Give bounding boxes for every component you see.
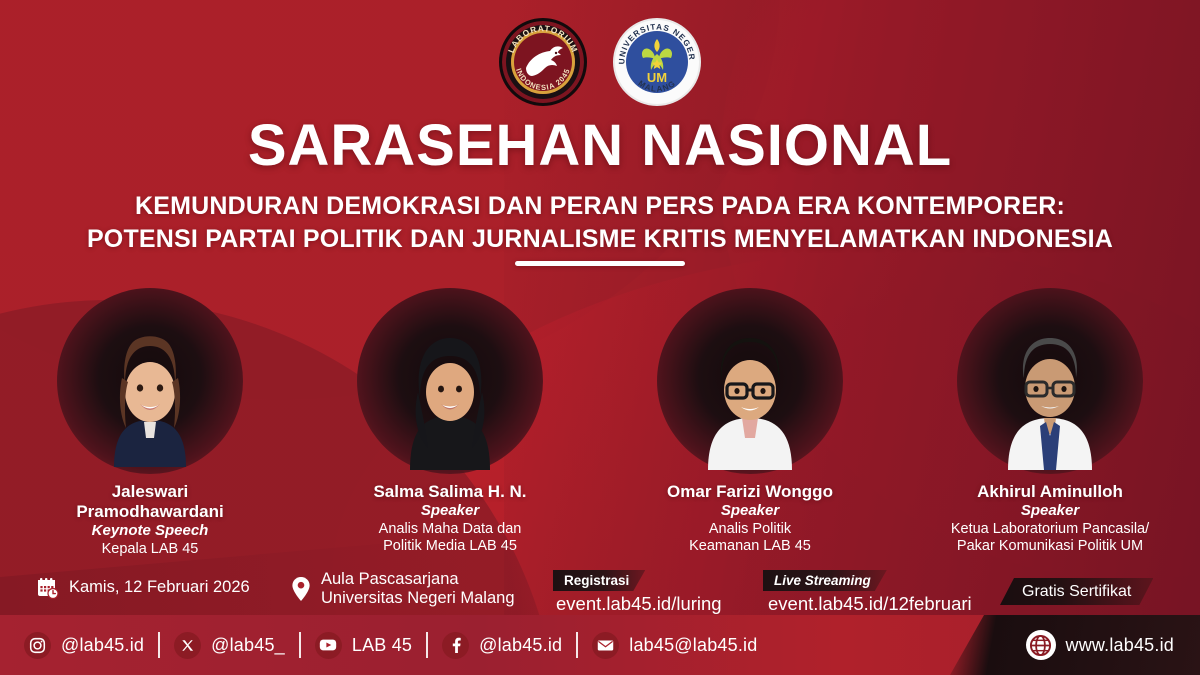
poster-title: SARASEHAN NASIONAL bbox=[0, 112, 1200, 179]
speaker-card: Salma Salima H. N. Speaker Analis Maha D… bbox=[300, 288, 600, 558]
speaker-role: Keynote Speech bbox=[92, 522, 209, 541]
speaker-org-line-2: Pakar Komunikasi Politik UM bbox=[957, 538, 1143, 555]
speaker-role: Speaker bbox=[421, 502, 479, 521]
speaker-photo bbox=[84, 312, 216, 472]
speaker-portrait bbox=[657, 288, 843, 474]
instagram-handle: @lab45.id bbox=[61, 635, 144, 656]
speaker-photo bbox=[384, 312, 516, 472]
speaker-org-line-2: Keamanan LAB 45 bbox=[689, 538, 811, 555]
speaker-card: Akhirul Aminulloh Speaker Ketua Laborato… bbox=[900, 288, 1200, 558]
social-x[interactable]: @lab45_ bbox=[174, 632, 285, 659]
garuda-bird-icon bbox=[520, 42, 566, 82]
event-info-row: Kamis, 12 Februari 2026 Aula Pascasarjan… bbox=[0, 566, 1200, 614]
event-venue: Aula Pascasarjana Universitas Negeri Mal… bbox=[290, 570, 515, 609]
x-handle: @lab45_ bbox=[211, 635, 285, 656]
social-footer: @lab45.id @lab45_ LAB 45 bbox=[0, 615, 1200, 675]
universitas-negeri-malang-logo: UNIVERSITAS NEGERI MALANG UM bbox=[613, 18, 701, 106]
calendar-clock-icon bbox=[36, 576, 60, 600]
speaker-name-line-1: Salma Salima H. N. bbox=[373, 482, 526, 502]
speaker-card: Jaleswari Pramodhawardani Keynote Speech… bbox=[0, 288, 300, 558]
registration-url[interactable]: event.lab45.id/luring bbox=[556, 593, 722, 615]
title-divider bbox=[515, 261, 685, 266]
speaker-list: Jaleswari Pramodhawardani Keynote Speech… bbox=[0, 288, 1200, 558]
speaker-name-line-1: Omar Farizi Wonggo bbox=[667, 482, 833, 502]
um-crest-icon: UM bbox=[634, 36, 680, 84]
facebook-handle: @lab45.id bbox=[479, 635, 562, 656]
speaker-portrait bbox=[57, 288, 243, 474]
speaker-name: Salma Salima H. N. bbox=[373, 482, 526, 502]
speaker-photo bbox=[684, 312, 816, 472]
livestream-url[interactable]: event.lab45.id/12februari bbox=[768, 593, 972, 615]
footer-divider bbox=[426, 632, 428, 658]
laboratorium-indonesia-2045-logo: LABORATORIUM INDONESIA 2045 bbox=[499, 18, 587, 106]
instagram-icon bbox=[24, 632, 51, 659]
livestream-label: Live Streaming bbox=[763, 570, 887, 591]
speaker-role: Speaker bbox=[1021, 502, 1079, 521]
svg-text:UM: UM bbox=[647, 70, 667, 84]
social-email[interactable]: lab45@lab45.id bbox=[592, 632, 757, 659]
speaker-photo bbox=[984, 312, 1116, 472]
social-instagram[interactable]: @lab45.id bbox=[24, 632, 144, 659]
speaker-org-line-1: Analis Politik bbox=[709, 521, 791, 538]
x-twitter-icon bbox=[174, 632, 201, 659]
speaker-org-line-1: Analis Maha Data dan bbox=[379, 521, 522, 538]
speaker-org-line-1: Ketua Laboratorium Pancasila/ bbox=[951, 521, 1149, 538]
event-poster: LABORATORIUM INDONESIA 2045 UNIV bbox=[0, 0, 1200, 675]
social-facebook[interactable]: @lab45.id bbox=[442, 632, 562, 659]
certificate-badge: Gratis Sertifikat bbox=[1000, 578, 1153, 605]
logo-row: LABORATORIUM INDONESIA 2045 UNIV bbox=[0, 18, 1200, 106]
location-pin-icon bbox=[290, 575, 312, 603]
youtube-icon bbox=[315, 632, 342, 659]
event-date: Kamis, 12 Februari 2026 bbox=[36, 576, 250, 600]
social-youtube[interactable]: LAB 45 bbox=[315, 632, 412, 659]
email-address: lab45@lab45.id bbox=[629, 635, 757, 656]
footer-divider bbox=[158, 632, 160, 658]
speaker-name-line-1: Jaleswari bbox=[76, 482, 223, 502]
subtitle-line-2: POTENSI PARTAI POLITIK DAN JURNALISME KR… bbox=[0, 223, 1200, 256]
footer-divider bbox=[576, 632, 578, 658]
venue-line-2: Universitas Negeri Malang bbox=[321, 589, 515, 608]
facebook-icon bbox=[442, 632, 469, 659]
globe-icon bbox=[1026, 630, 1056, 660]
speaker-name-line-2: Pramodhawardani bbox=[76, 502, 223, 522]
website-link[interactable]: www.lab45.id bbox=[1026, 630, 1174, 660]
speaker-role: Speaker bbox=[721, 502, 779, 521]
speaker-org-line-2: Politik Media LAB 45 bbox=[383, 538, 517, 555]
youtube-handle: LAB 45 bbox=[352, 635, 412, 656]
event-venue-text: Aula Pascasarjana Universitas Negeri Mal… bbox=[321, 570, 515, 609]
email-icon bbox=[592, 632, 619, 659]
poster-subtitle: KEMUNDURAN DEMOKRASI DAN PERAN PERS PADA… bbox=[0, 190, 1200, 256]
event-date-text: Kamis, 12 Februari 2026 bbox=[69, 578, 250, 597]
subtitle-line-1: KEMUNDURAN DEMOKRASI DAN PERAN PERS PADA… bbox=[0, 190, 1200, 223]
registration-label: Registrasi bbox=[553, 570, 645, 591]
speaker-name: Omar Farizi Wonggo bbox=[667, 482, 833, 502]
speaker-name: Jaleswari Pramodhawardani bbox=[76, 482, 223, 522]
venue-line-1: Aula Pascasarjana bbox=[321, 570, 515, 589]
speaker-name-line-1: Akhirul Aminulloh bbox=[977, 482, 1123, 502]
speaker-portrait bbox=[357, 288, 543, 474]
speaker-org-line-1: Kepala LAB 45 bbox=[102, 541, 199, 558]
speaker-portrait bbox=[957, 288, 1143, 474]
speaker-card: Omar Farizi Wonggo Speaker Analis Politi… bbox=[600, 288, 900, 558]
speaker-name: Akhirul Aminulloh bbox=[977, 482, 1123, 502]
website-label: www.lab45.id bbox=[1066, 635, 1174, 656]
footer-divider bbox=[299, 632, 301, 658]
